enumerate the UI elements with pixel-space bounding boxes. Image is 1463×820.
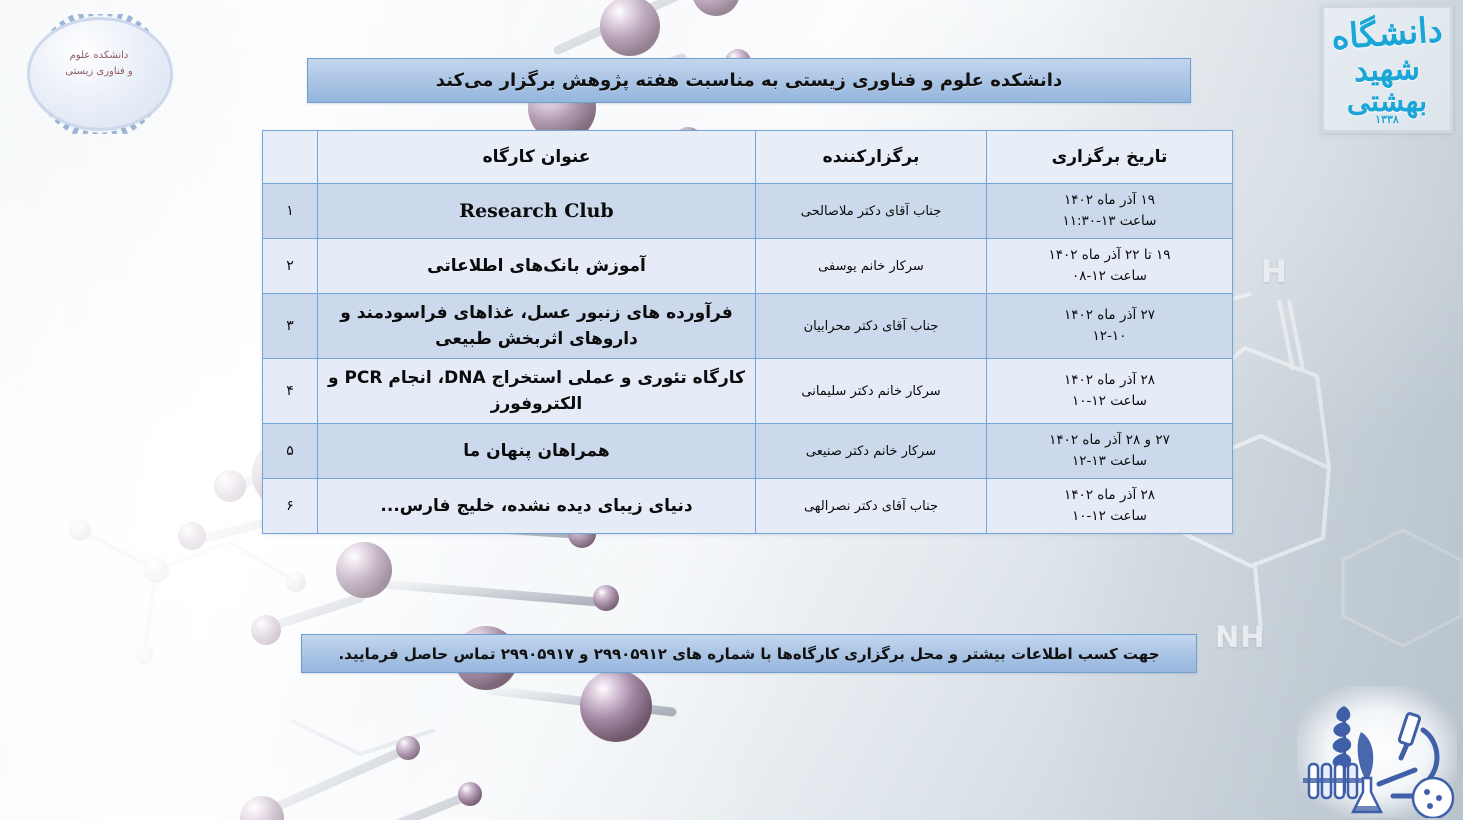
- cell-workshop-title: کارگاه تئوری و عملی استخراج DNA، انجام P…: [318, 359, 756, 424]
- science-illustration: [1297, 686, 1457, 818]
- cell-organizer: جناب آقای دکتر نصرالهی: [756, 479, 987, 534]
- cell-organizer: جناب آقای دکتر محرابیان: [756, 294, 987, 359]
- logo-founding-year: ۱۳۳۸: [1324, 113, 1450, 126]
- cell-row-index: ۲: [263, 239, 318, 294]
- cell-workshop-title: دنیای زیبای دیده نشده، خلیج فارس...: [318, 479, 756, 534]
- date-line-2: ساعت ۱۳-۱۲: [995, 451, 1224, 472]
- cell-date: ۲۷ آذر ماه ۱۴۰۲۱۲-۱۰: [987, 294, 1233, 359]
- footer-contact-banner: جهت کسب اطلاعات بیشتر و محل برگزاری کارگ…: [301, 634, 1197, 673]
- date-line-1: ۲۸ آذر ماه ۱۴۰۲: [995, 485, 1224, 506]
- title-banner-text: دانشکده علوم و فناوری زیستی به مناسبت هف…: [436, 70, 1062, 91]
- cell-workshop-title: Research Club: [318, 184, 756, 239]
- column-header-date: تاریخ برگزاری: [987, 131, 1233, 184]
- cell-organizer: سرکار خانم یوسفی: [756, 239, 987, 294]
- workshop-schedule-table: تاریخ برگزاری برگزارکننده عنوان کارگاه ۱…: [262, 130, 1233, 534]
- cell-date: ۲۸ آذر ماه ۱۴۰۲ساعت ۱۲-۱۰: [987, 359, 1233, 424]
- title-banner: دانشکده علوم و فناوری زیستی به مناسبت هف…: [307, 58, 1191, 103]
- column-header-index: [263, 131, 318, 184]
- university-logo: دانشگاه شهید بهشتی ۱۳۳۸: [1321, 5, 1453, 133]
- cell-workshop-title: آموزش بانک‌های اطلاعاتی: [318, 239, 756, 294]
- cell-row-index: ۵: [263, 424, 318, 479]
- date-line-1: ۲۷ و ۲۸ آذر ماه ۱۴۰۲: [995, 430, 1224, 451]
- table-row: ۱۹ آذر ماه ۱۴۰۲ساعت ۱۳-۱۱:۳۰جناب آقای دک…: [263, 184, 1233, 239]
- seal-line-2: و فناوری زیستی: [16, 64, 182, 80]
- cell-row-index: ۱: [263, 184, 318, 239]
- date-line-2: ساعت ۱۲-۰۸: [995, 266, 1224, 287]
- seal-text: دانشکده علوم و فناوری زیستی: [16, 48, 182, 80]
- date-line-2: ۱۲-۱۰: [995, 326, 1224, 347]
- table-row: ۲۸ آذر ماه ۱۴۰۲ساعت ۱۲-۱۰سرکار خانم دکتر…: [263, 359, 1233, 424]
- cell-date: ۱۹ آذر ماه ۱۴۰۲ساعت ۱۳-۱۱:۳۰: [987, 184, 1233, 239]
- column-header-title: عنوان کارگاه: [318, 131, 756, 184]
- table-header-row: تاریخ برگزاری برگزارکننده عنوان کارگاه: [263, 131, 1233, 184]
- column-header-organizer: برگزارکننده: [756, 131, 987, 184]
- faculty-seal-logo: دانشکده علوم و فناوری زیستی: [16, 14, 182, 134]
- cell-row-index: ۶: [263, 479, 318, 534]
- cell-organizer: سرکار خانم دکتر سلیمانی: [756, 359, 987, 424]
- date-line-2: ساعت ۱۳-۱۱:۳۰: [995, 211, 1224, 232]
- date-line-1: ۲۸ آذر ماه ۱۴۰۲: [995, 370, 1224, 391]
- table-row: ۱۹ تا ۲۲ آذر ماه ۱۴۰۲ساعت ۱۲-۰۸سرکار خان…: [263, 239, 1233, 294]
- cell-date: ۲۸ آذر ماه ۱۴۰۲ساعت ۱۲-۱۰: [987, 479, 1233, 534]
- date-line-1: ۲۷ آذر ماه ۱۴۰۲: [995, 305, 1224, 326]
- footer-banner-text: جهت کسب اطلاعات بیشتر و محل برگزاری کارگ…: [338, 645, 1159, 663]
- cell-organizer: سرکار خانم دکتر صنیعی: [756, 424, 987, 479]
- seal-line-1: دانشکده علوم: [16, 48, 182, 64]
- date-line-1: ۱۹ آذر ماه ۱۴۰۲: [995, 190, 1224, 211]
- cell-row-index: ۴: [263, 359, 318, 424]
- table-row: ۲۷ و ۲۸ آذر ماه ۱۴۰۲ساعت ۱۳-۱۲سرکار خانم…: [263, 424, 1233, 479]
- cell-row-index: ۳: [263, 294, 318, 359]
- date-line-1: ۱۹ تا ۲۲ آذر ماه ۱۴۰۲: [995, 245, 1224, 266]
- poster-canvas: CH₃ H NH دانشکده علوم و فناوری زیستی دان…: [0, 0, 1463, 820]
- cell-date: ۱۹ تا ۲۲ آذر ماه ۱۴۰۲ساعت ۱۲-۰۸: [987, 239, 1233, 294]
- table-body: ۱۹ آذر ماه ۱۴۰۲ساعت ۱۳-۱۱:۳۰جناب آقای دک…: [263, 184, 1233, 534]
- table-row: ۲۸ آذر ماه ۱۴۰۲ساعت ۱۲-۱۰جناب آقای دکتر …: [263, 479, 1233, 534]
- cell-workshop-title: همراهان پنهان ما: [318, 424, 756, 479]
- cell-organizer: جناب آقای دکتر ملاصالحی: [756, 184, 987, 239]
- cell-date: ۲۷ و ۲۸ آذر ماه ۱۴۰۲ساعت ۱۳-۱۲: [987, 424, 1233, 479]
- date-line-2: ساعت ۱۲-۱۰: [995, 506, 1224, 527]
- date-line-2: ساعت ۱۲-۱۰: [995, 391, 1224, 412]
- table-row: ۲۷ آذر ماه ۱۴۰۲۱۲-۱۰جناب آقای دکتر محراب…: [263, 294, 1233, 359]
- test-tubes-icon: [1303, 764, 1365, 798]
- cell-workshop-title: فرآورده های زنبور عسل، غذاهای فراسودمند …: [318, 294, 756, 359]
- microscope-tube: [1399, 713, 1421, 746]
- cell-icon: [1413, 778, 1453, 818]
